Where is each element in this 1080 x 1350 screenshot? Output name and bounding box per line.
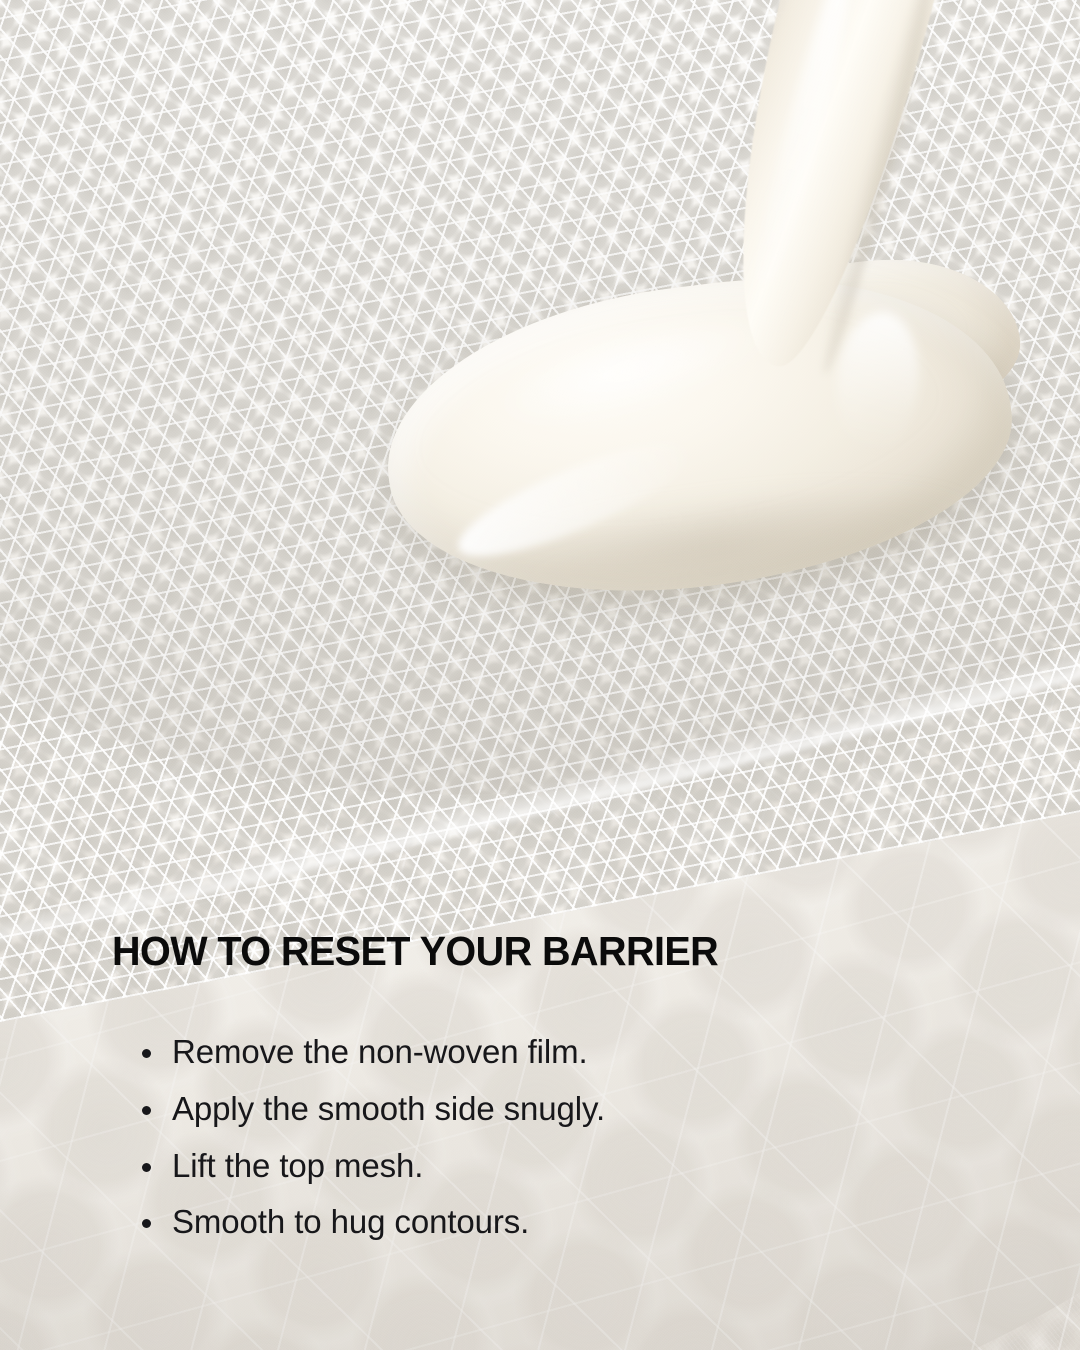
list-item: Smooth to hug contours. (112, 1205, 992, 1240)
poster-canvas: HOW TO RESET YOUR BARRIER Remove the non… (0, 0, 1080, 1350)
headline: HOW TO RESET YOUR BARRIER (112, 930, 961, 973)
cream-pool-right-highlight (832, 308, 925, 453)
list-item: Apply the smooth side snugly. (112, 1092, 992, 1127)
copy-block: HOW TO RESET YOUR BARRIER Remove the non… (112, 930, 992, 1240)
list-item: Remove the non-woven film. (112, 1035, 992, 1070)
list-item: Lift the top mesh. (112, 1149, 992, 1184)
steps-list: Remove the non-woven film. Apply the smo… (112, 1035, 992, 1240)
